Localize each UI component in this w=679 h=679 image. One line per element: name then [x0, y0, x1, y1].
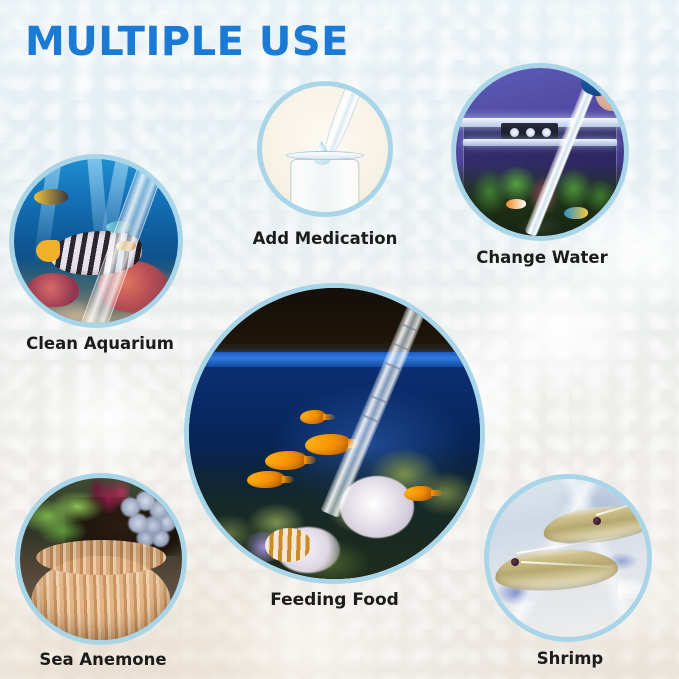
cell-shrimp: Shrimp — [489, 479, 651, 637]
image-sea-anemone — [20, 478, 182, 640]
scene-feeding-food — [189, 288, 480, 579]
led-lamp-icon — [542, 128, 551, 137]
image-change-water — [456, 68, 624, 236]
tube-marking — [402, 323, 418, 331]
tank-hood — [189, 288, 480, 355]
led-lamp-icon — [510, 128, 519, 137]
tube-marking — [363, 415, 379, 423]
led-lamp-icon — [526, 128, 535, 137]
tube-marking — [371, 396, 387, 404]
cell-sea-anemone: Sea Anemone — [20, 478, 186, 640]
scene-clean-aquarium — [14, 159, 178, 323]
cell-add-medication: Add Medication — [262, 86, 388, 212]
image-add-medication — [262, 86, 388, 212]
page-title: MULTIPLE USE — [25, 19, 349, 65]
tube-marking — [385, 362, 401, 370]
infographic-poster: MULTIPLE USE Clean Aquarium — [0, 0, 679, 679]
coral-cluster — [27, 273, 79, 307]
caption-shrimp: Shrimp — [537, 649, 603, 668]
fish-small — [34, 189, 68, 205]
caption-change-water: Change Water — [476, 248, 607, 267]
shrimp-tail — [618, 579, 644, 599]
cell-change-water: Change Water — [456, 68, 628, 236]
led-fixture — [501, 123, 558, 140]
glass-beaker — [290, 159, 359, 212]
beaker-rim — [286, 151, 364, 160]
tube-marking — [393, 343, 409, 351]
image-clean-aquarium — [14, 159, 178, 323]
fish-cichlid — [404, 486, 434, 501]
cell-feeding-food: Feeding Food — [189, 288, 480, 579]
led-light-bar — [463, 139, 618, 146]
scene-shrimp — [489, 479, 647, 637]
caption-sea-anemone: Sea Anemone — [39, 650, 166, 669]
fish-angelfish — [265, 528, 311, 562]
anemone-tentacles — [36, 540, 166, 576]
scene-sea-anemone — [20, 478, 182, 640]
fish-cichlid — [300, 410, 326, 424]
caption-feeding-food: Feeding Food — [270, 590, 399, 610]
fish-tang — [564, 207, 588, 219]
cell-clean-aquarium: Clean Aquarium — [14, 159, 186, 323]
scene-add-medication — [262, 86, 388, 212]
scene-change-water — [456, 68, 624, 236]
image-shrimp — [489, 479, 647, 637]
caption-clean-aquarium: Clean Aquarium — [26, 334, 174, 353]
image-feeding-food — [189, 288, 480, 579]
caption-add-medication: Add Medication — [253, 229, 398, 248]
fish-cichlid — [265, 451, 307, 470]
